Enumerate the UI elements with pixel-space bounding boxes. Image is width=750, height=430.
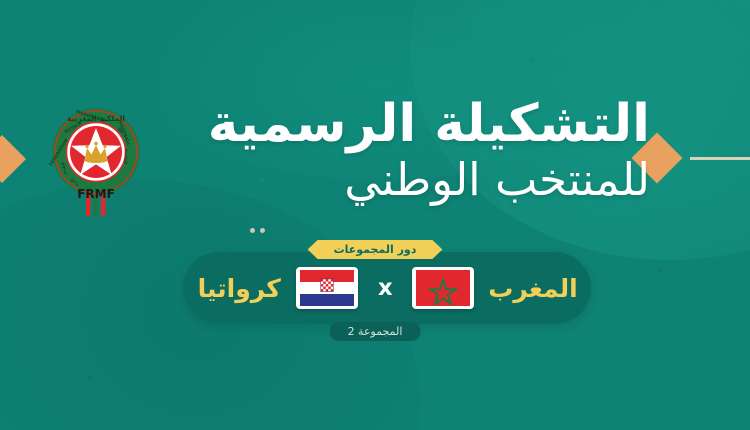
- match-card: المغرب x: [183, 252, 591, 324]
- diamond-accent-left-icon: [0, 135, 26, 183]
- stage-badge: دور المجموعات: [308, 240, 443, 259]
- poster-canvas: الملكية المغربية FEDERATION ROYALE MAROC…: [0, 0, 750, 430]
- page-title: التشكيلة الرسمية للمنتخب الوطني: [130, 98, 650, 205]
- match-teams-row: المغرب x: [183, 252, 591, 324]
- horizontal-rule-accent: [690, 157, 750, 160]
- versus-separator: x: [372, 275, 398, 301]
- headline-secondary: للمنتخب الوطني: [130, 154, 650, 206]
- dot-accent-2: [250, 228, 255, 233]
- dot-accent-group: [250, 228, 265, 233]
- away-team-name: كرواتيا: [196, 274, 282, 303]
- croatia-flag-icon: [296, 267, 358, 309]
- svg-text:FRMF: FRMF: [77, 187, 115, 201]
- headline-primary: التشكيلة الرسمية: [130, 98, 650, 152]
- home-team-name: المغرب: [488, 274, 578, 303]
- morocco-flag-icon: [412, 267, 474, 309]
- dot-accent-1: [260, 228, 265, 233]
- group-badge: المجموعة 2: [330, 322, 421, 341]
